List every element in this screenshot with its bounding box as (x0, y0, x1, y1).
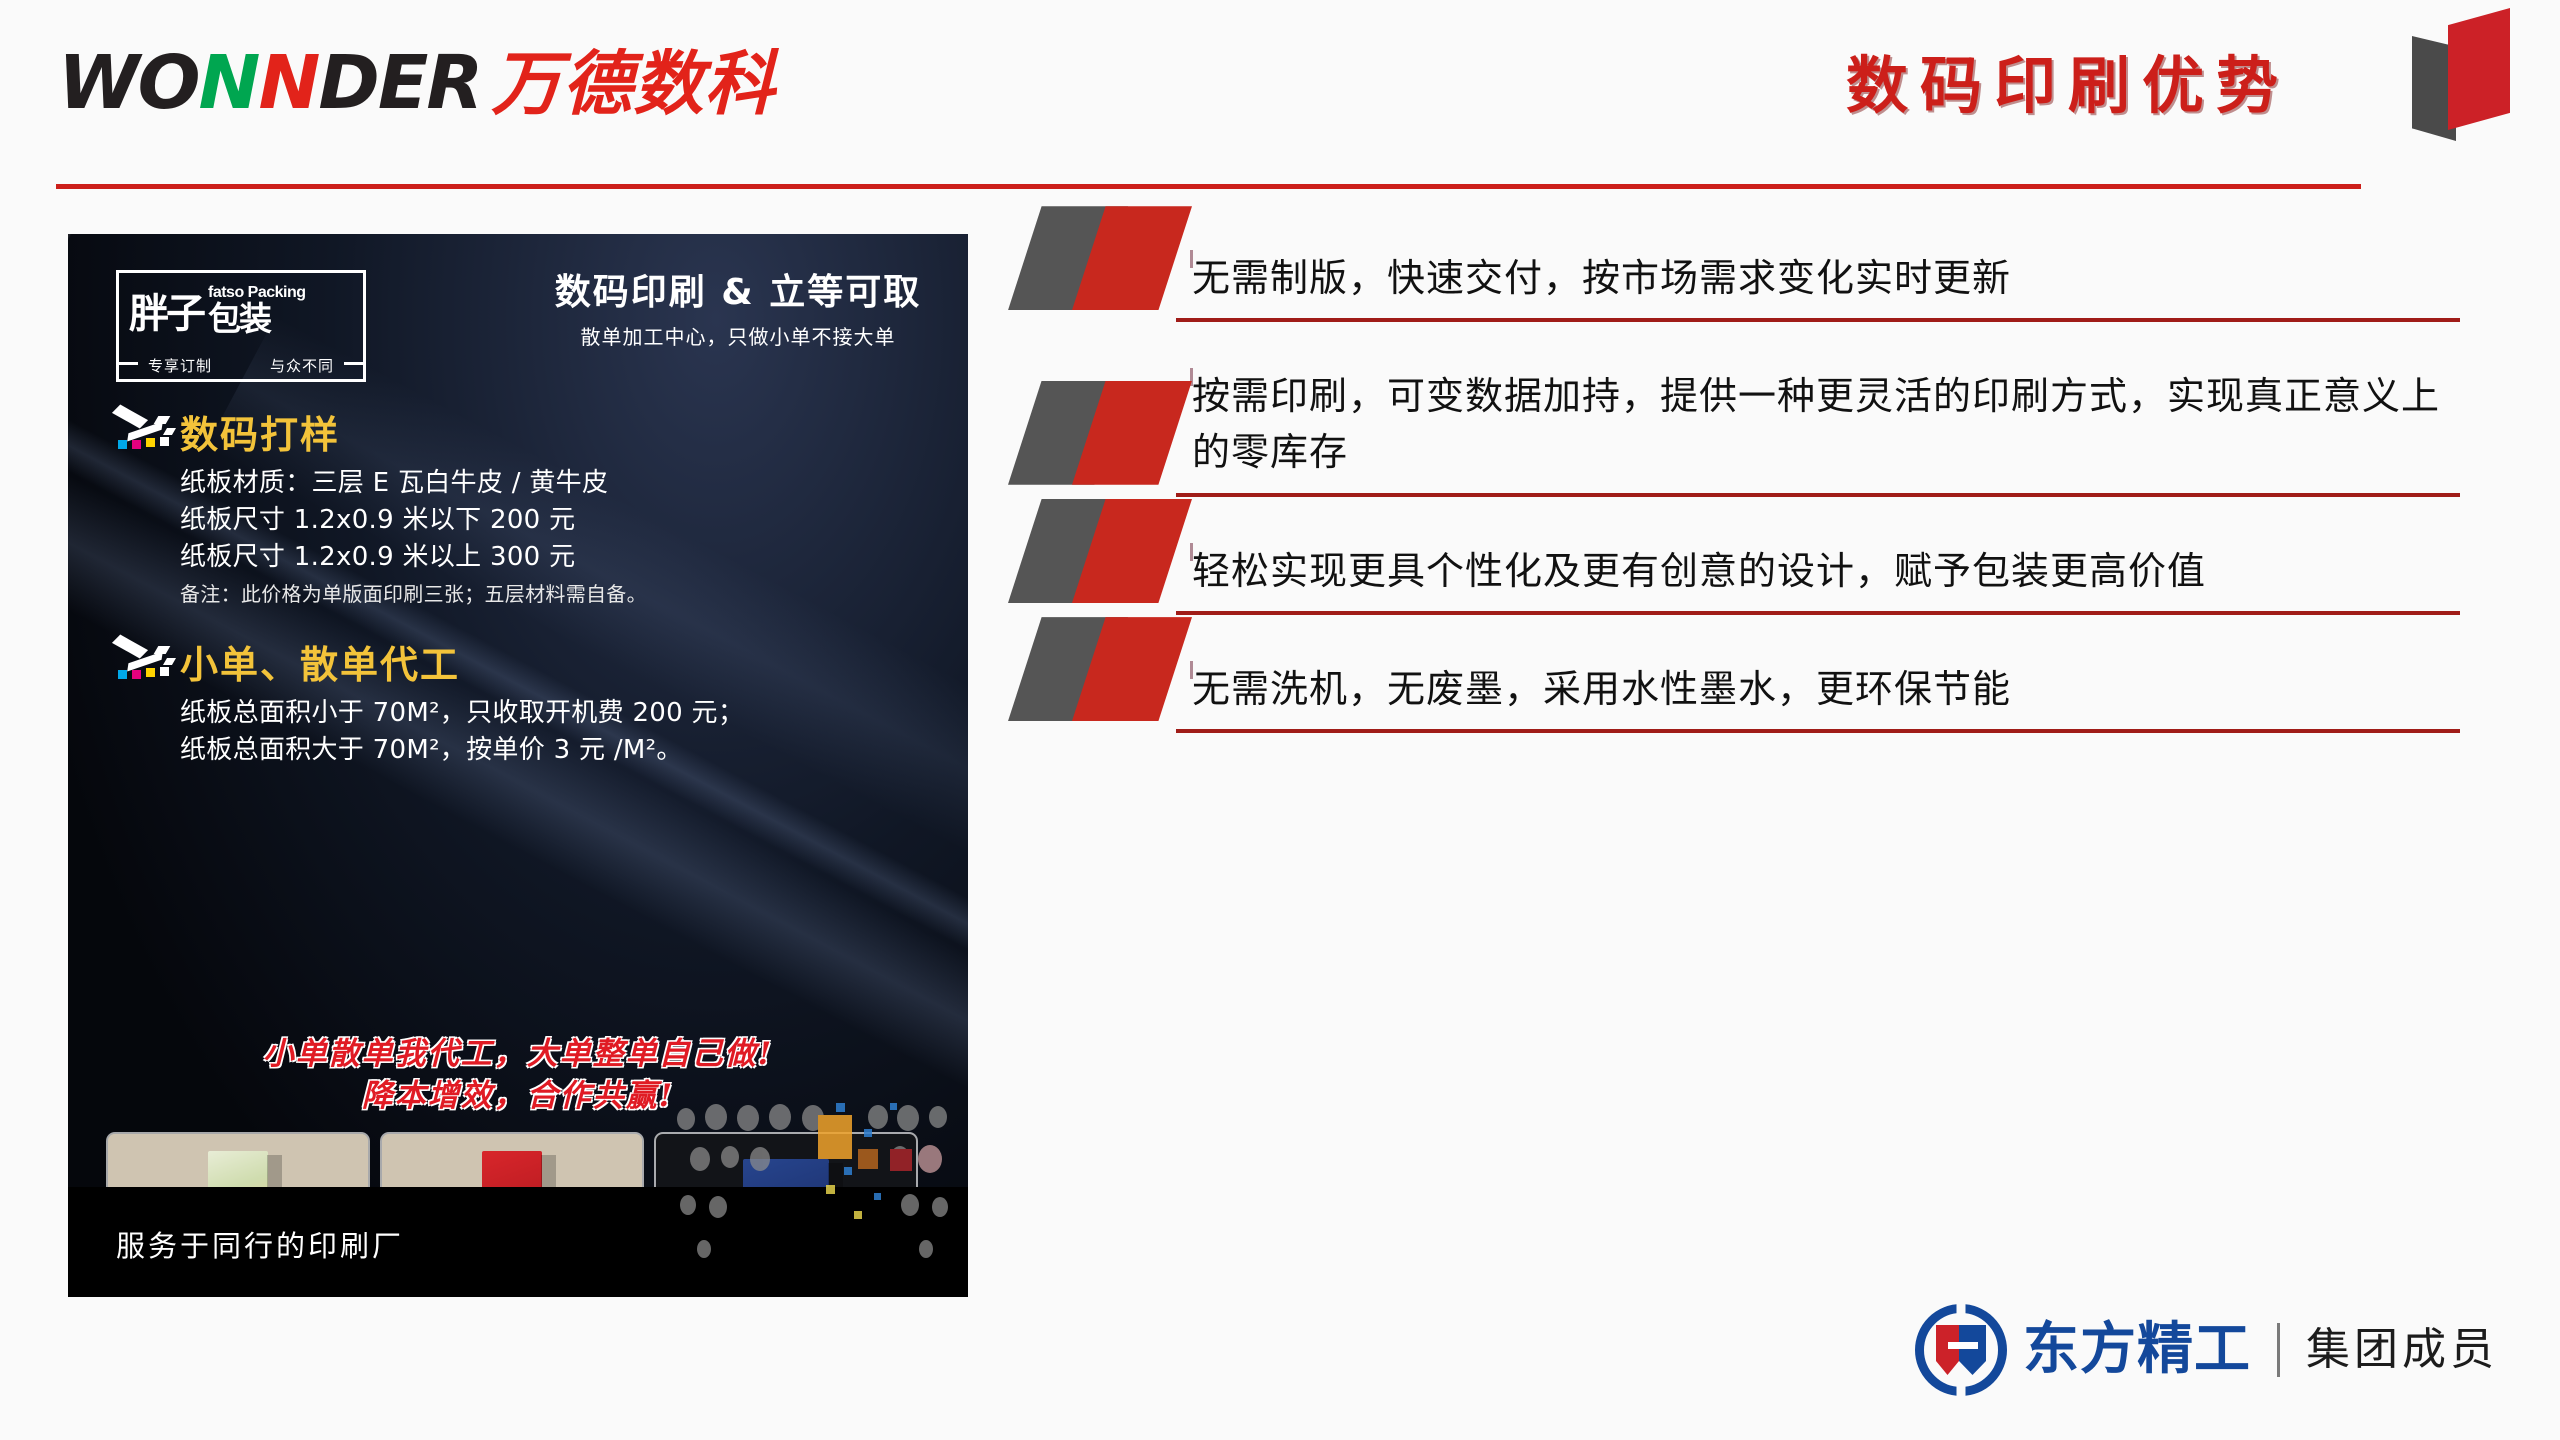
badge-tag-left: 专享订制 (148, 355, 212, 376)
fatso-packing-logo: 胖子 fatso Packing 包装 专享订制 与众不同 (116, 270, 366, 382)
promotional-poster-image: 胖子 fatso Packing 包装 专享订制 与众不同 数码印刷 & 立等可… (68, 234, 968, 1297)
page-title: 数码印刷优势 (1846, 50, 2290, 124)
poster-section-small-orders: 小单、散单代工 纸板总面积小于 70M²，只收取开机费 200 元； 纸板总面积… (68, 634, 968, 769)
poster-headline-block: 数码印刷 & 立等可取 散单加工中心，只做小单不接大单 (528, 272, 948, 350)
advantage-underline (1176, 318, 2460, 322)
bullet-tick-icon (1190, 543, 1193, 561)
cmyk-arrow-icon (108, 408, 180, 456)
section-title: 数码打样 (180, 404, 340, 459)
advantage-text: 轻松实现更具个性化及更有创意的设计，赋予包装更高价值 (1192, 543, 2460, 611)
advantage-text: 按需印刷，可变数据加持，提供一种更灵活的印刷方式，实现真正意义上的零库存 (1192, 368, 2460, 492)
slanted-bars-icon (1008, 206, 1188, 312)
header-divider (56, 184, 2361, 189)
section-title: 小单、散单代工 (180, 634, 460, 689)
wonder-letter-w: W (58, 46, 138, 120)
section-line: 纸板尺寸 1.2x0.9 米以上 300 元 (180, 539, 968, 576)
advantage-underline (1176, 493, 2460, 497)
advantage-item[interactable]: 按需印刷，可变数据加持，提供一种更灵活的印刷方式，实现真正意义上的零库存 (1000, 368, 2460, 496)
advantages-list: 无需制版，快速交付，按市场需求变化实时更新 按需印刷，可变数据加持，提供一种更灵… (1000, 250, 2460, 779)
advantage-underline (1176, 611, 2460, 615)
section-line: 纸板总面积大于 70M²，按单价 3 元 /M²。 (180, 732, 968, 769)
cmyk-arrow-icon (108, 638, 180, 686)
dongfang-shield-icon (1915, 1304, 2007, 1396)
group-member-logo: 东方精工 集团成员 (1915, 1302, 2498, 1398)
advantage-item[interactable]: 无需制版，快速交付，按市场需求变化实时更新 (1000, 250, 2460, 322)
brand-chinese-name: 万德数科 (491, 49, 775, 119)
section-note: 备注：此价格为单版面印刷三张；五层材料需自备。 (180, 580, 968, 608)
page-header: W O N N DER 万德数科 数码印刷优势 (0, 0, 2560, 200)
wonder-letters-der: DER (318, 46, 481, 120)
section-line: 纸板尺寸 1.2x0.9 米以下 200 元 (180, 502, 968, 539)
slanted-bars-icon (1008, 499, 1188, 605)
halftone-dots-decoration (668, 1097, 968, 1287)
section-line: 纸板总面积小于 70M²，只收取开机费 200 元； (180, 695, 968, 732)
advantage-text: 无需制版，快速交付，按市场需求变化实时更新 (1192, 250, 2460, 318)
slanted-bars-icon (1008, 381, 1188, 487)
wonder-letter-n-green: N (199, 46, 259, 120)
bullet-tick-icon (1190, 661, 1193, 679)
badge-tag-right: 与众不同 (270, 355, 334, 376)
poster-subheadline: 散单加工中心，只做小单不接大单 (528, 321, 948, 350)
slanted-bars-icon (1008, 617, 1188, 723)
wonder-letter-n-red: N (258, 46, 318, 120)
group-member-label: 集团成员 (2306, 1328, 2498, 1372)
advantage-item[interactable]: 轻松实现更具个性化及更有创意的设计，赋予包装更高价值 (1000, 543, 2460, 615)
footer-divider (2277, 1323, 2280, 1377)
wonder-letter-o: O (138, 46, 199, 120)
advantage-text: 无需洗机，无废墨，采用水性墨水，更环保节能 (1192, 661, 2460, 729)
advantage-item[interactable]: 无需洗机，无废墨，采用水性墨水，更环保节能 (1000, 661, 2460, 733)
poster-headline: 数码印刷 & 立等可取 (528, 272, 948, 313)
badge-sub-text: 包装 (208, 302, 306, 335)
parallelogram-corner-icon (2412, 8, 2522, 143)
section-line: 纸板材质：三层 E 瓦白牛皮 / 黄牛皮 (180, 465, 968, 502)
badge-main-text: 胖子 (129, 281, 203, 339)
wonder-brand-logo: W O N N DER 万德数科 (58, 46, 775, 120)
poster-header: 胖子 fatso Packing 包装 专享订制 与众不同 数码印刷 & 立等可… (68, 234, 968, 384)
poster-section-digital-proofing: 数码打样 纸板材质：三层 E 瓦白牛皮 / 黄牛皮 纸板尺寸 1.2x0.9 米… (68, 404, 968, 608)
bullet-tick-icon (1190, 250, 1193, 268)
company-name: 东方精工 (2023, 1322, 2251, 1378)
advantage-underline (1176, 729, 2460, 733)
corner-red-shape (2448, 8, 2510, 130)
slogan-line-1: 小单散单我代工，大单整单自己做! (68, 1034, 968, 1076)
poster-footer-text: 服务于同行的印刷厂 (116, 1223, 404, 1265)
